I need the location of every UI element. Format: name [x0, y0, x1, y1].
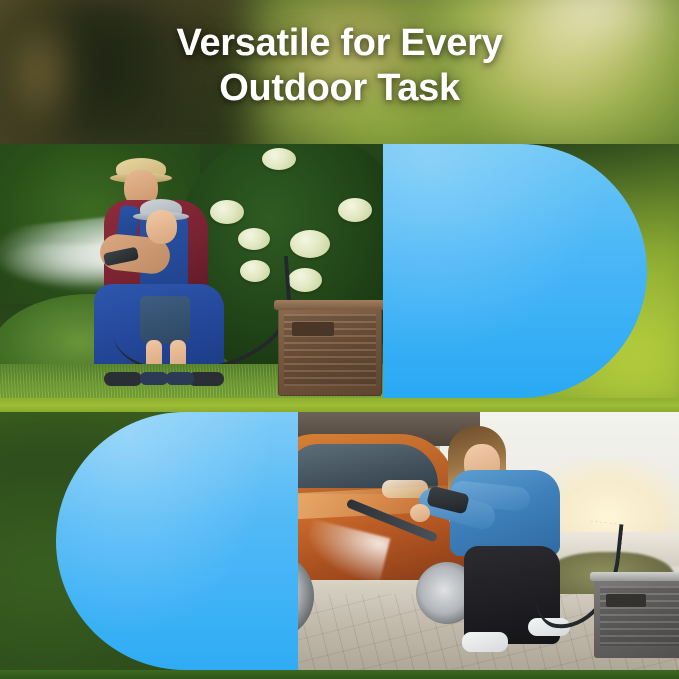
- garden-maintenance-photo: [0, 144, 383, 398]
- car-wash-photo: [298, 412, 679, 670]
- page-title-line-2: Outdoor Task: [0, 66, 679, 111]
- header-banner: Versatile for Every Outdoor Task: [0, 0, 679, 144]
- car-wash-panel[interactable]: Car Wash: [0, 412, 298, 670]
- feature-row-car-wash: Car Wash: [0, 412, 679, 670]
- page-title: Versatile for Every Outdoor Task: [0, 21, 679, 111]
- row-divider: [0, 398, 679, 412]
- feature-row-garden-maintenance: Garden Maintenance: [0, 144, 679, 398]
- page-title-line-1: Versatile for Every: [0, 21, 679, 66]
- bottom-edge-strip: [0, 670, 679, 679]
- garden-maintenance-panel[interactable]: Garden Maintenance: [383, 144, 679, 398]
